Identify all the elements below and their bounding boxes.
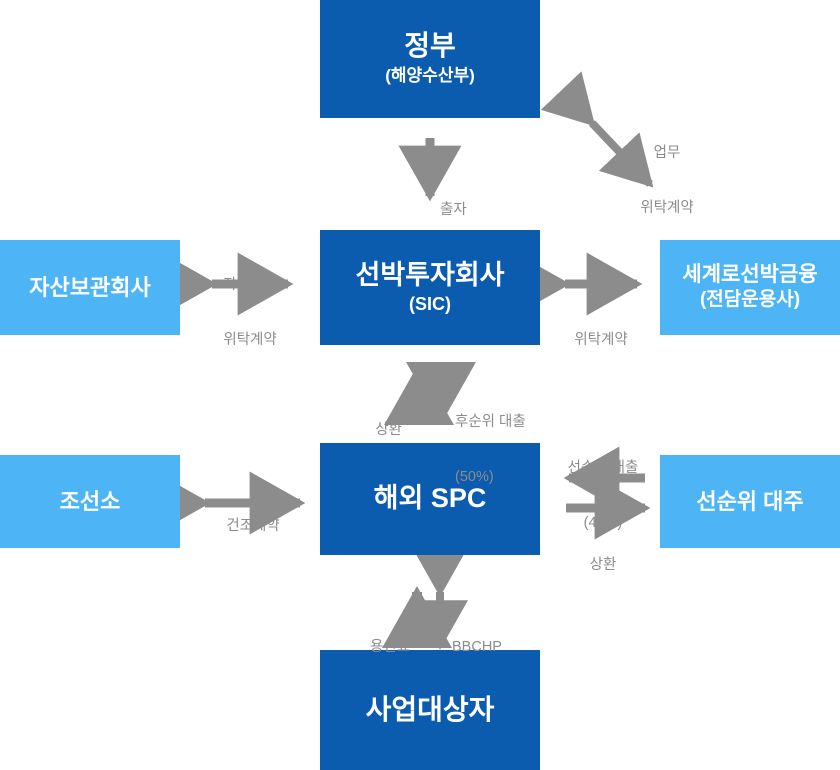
edge-label-build-contract: 건조계약 bbox=[198, 481, 308, 572]
node-sic-subtitle: (SIC) bbox=[409, 294, 451, 315]
node-sic-title: 선박투자회사 bbox=[355, 260, 504, 292]
node-project-obligor-title: 사업대상자 bbox=[366, 693, 495, 726]
edge-label-custodian-sic: 자산보관 위탁계약 bbox=[195, 240, 305, 385]
node-ship-investment-company[interactable]: 선박투자회사 (SIC) bbox=[320, 230, 540, 345]
node-asset-manager-subtitle: (전담운용사) bbox=[700, 289, 800, 311]
edge-label-spc-sic-repayment: 상환 bbox=[330, 385, 402, 476]
edge-label-gov-manager: 업무 위탁계약 bbox=[612, 108, 722, 253]
node-asset-manager-title: 세계로선박금융 bbox=[682, 263, 817, 288]
edge-label-senior-repayment: 상환 bbox=[548, 520, 658, 611]
node-custodian[interactable]: 자산보관회사 bbox=[0, 240, 180, 335]
node-senior-lender[interactable]: 선순위 대주 bbox=[660, 455, 840, 548]
node-asset-manager[interactable]: 세계로선박금융 (전담운용사) bbox=[660, 240, 840, 335]
node-shipyard-title: 조선소 bbox=[60, 489, 121, 515]
edge-label-sic-manager: 업무 위탁계약 bbox=[546, 240, 656, 385]
diagram-canvas: 정부 (해양수산부) 선박투자회사 (SIC) 자산보관회사 세계로선박금융 (… bbox=[0, 0, 840, 768]
node-government-title: 정부 bbox=[404, 29, 456, 62]
edge-label-bbchp: BBCHP bbox=[452, 602, 532, 693]
edge-label-charter-hire: 용선료 bbox=[358, 602, 410, 693]
node-shipyard[interactable]: 조선소 bbox=[0, 455, 180, 548]
node-government[interactable]: 정부 (해양수산부) bbox=[320, 0, 540, 118]
node-senior-lender-title: 선순위 대주 bbox=[696, 489, 803, 515]
edge-label-gov-sic: 출자 bbox=[440, 165, 500, 256]
node-custodian-title: 자산보관회사 bbox=[29, 275, 150, 301]
node-government-subtitle: (해양수산부) bbox=[385, 66, 475, 86]
